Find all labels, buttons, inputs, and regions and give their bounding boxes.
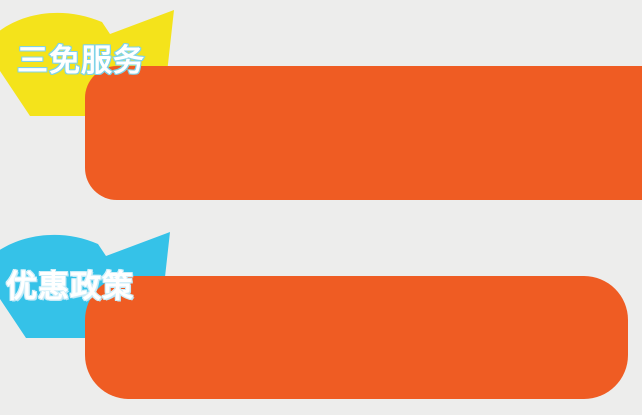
three-free-service-panel [85, 66, 642, 200]
preferential-policy-panel [85, 276, 628, 399]
preferential-policy-title: 优惠政策 [6, 270, 134, 304]
promo-graphic: 三免服务 2.终身机器软件升级服务费免费 3.终身技术升级培训,打印切割一站式解… [0, 0, 642, 415]
three-free-service-title: 三免服务 [17, 44, 145, 78]
